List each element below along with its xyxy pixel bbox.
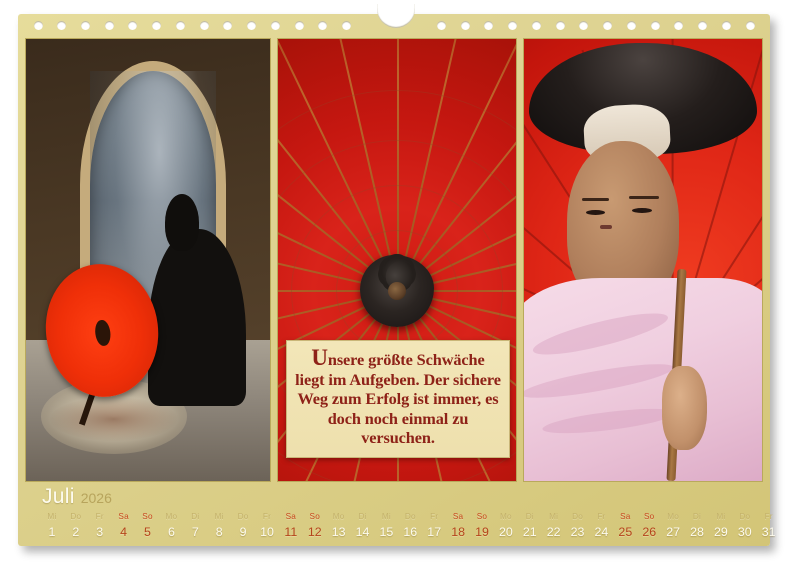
binding-hole [318, 21, 327, 30]
day-number: 18 [446, 525, 470, 539]
day-number: 11 [279, 525, 303, 539]
day-of-week-label: Mi [709, 512, 733, 521]
day-of-week-label: Do [398, 512, 422, 521]
binding-hole [722, 21, 731, 30]
day-of-week-label: Di [685, 512, 709, 521]
quote-dropcap: U [311, 345, 328, 370]
robe-fold [530, 306, 670, 363]
day-of-week-label: So [637, 512, 661, 521]
day-number: 26 [637, 525, 661, 539]
day-number: 13 [327, 525, 351, 539]
day-of-week-label: Fr [88, 512, 112, 521]
hanging-notch [377, 4, 415, 28]
day-number: 1 [40, 525, 64, 539]
day-cell[interactable]: So12 [303, 512, 327, 539]
day-of-week-label: Di [351, 512, 375, 521]
hand-gripping-handle [662, 366, 707, 450]
day-cell[interactable]: So5 [136, 512, 160, 539]
day-cell[interactable]: Mi22 [542, 512, 566, 539]
day-of-week-label: Do [231, 512, 255, 521]
day-number: 21 [518, 525, 542, 539]
binding-hole [484, 21, 493, 30]
day-number: 12 [303, 525, 327, 539]
eyebrow-right [629, 196, 658, 199]
day-cell[interactable]: Di14 [351, 512, 375, 539]
binding-hole [603, 21, 612, 30]
day-of-week-label: Mi [374, 512, 398, 521]
day-cell[interactable]: Sa18 [446, 512, 470, 539]
month-heading: Juli 2026 [42, 485, 112, 509]
pink-robe [523, 278, 763, 481]
robe-fold [523, 358, 676, 405]
binding-hole [627, 21, 636, 30]
day-of-week-label: Mi [40, 512, 64, 521]
day-cell[interactable]: Mi29 [709, 512, 733, 539]
day-cell[interactable]: Fr31 [757, 512, 781, 539]
day-cell[interactable]: Di21 [518, 512, 542, 539]
photo-panel-nun [523, 38, 763, 482]
day-number: 23 [566, 525, 590, 539]
day-number: 14 [351, 525, 375, 539]
year-label: 2026 [81, 490, 112, 506]
day-of-week-label: So [136, 512, 160, 521]
calendar-date-strip: Juli 2026 Mi1Do2Fr3Sa4So5Mo6Di7Mi8Do9Fr1… [18, 482, 770, 546]
day-cell[interactable]: Di7 [183, 512, 207, 539]
day-of-week-label: Sa [613, 512, 637, 521]
day-number: 22 [542, 525, 566, 539]
binding-hole [556, 21, 565, 30]
day-number: 6 [159, 525, 183, 539]
day-number: 30 [733, 525, 757, 539]
day-number: 24 [589, 525, 613, 539]
day-number: 29 [709, 525, 733, 539]
day-cell[interactable]: Fr3 [88, 512, 112, 539]
binding-hole [81, 21, 90, 30]
day-of-week-label: Sa [446, 512, 470, 521]
binding-hole [342, 21, 351, 30]
day-number: 9 [231, 525, 255, 539]
quote-text: Unsere größte Schwäche liegt im Aufgeben… [295, 348, 501, 448]
day-of-week-label: Mi [542, 512, 566, 521]
day-number: 3 [88, 525, 112, 539]
binding-hole [532, 21, 541, 30]
day-of-week-label: Di [183, 512, 207, 521]
mouth [600, 225, 611, 229]
day-of-week-label: Sa [279, 512, 303, 521]
photo-panel-parasol: Unsere größte Schwäche liegt im Aufgeben… [277, 38, 517, 482]
day-number: 16 [398, 525, 422, 539]
day-cell[interactable]: Mi15 [374, 512, 398, 539]
binding-hole [698, 21, 707, 30]
day-cell[interactable]: Mi1 [40, 512, 64, 539]
day-cell[interactable]: Mo27 [661, 512, 685, 539]
day-of-week-label: Fr [757, 512, 781, 521]
day-of-week-label: Fr [422, 512, 446, 521]
day-number: 2 [64, 525, 88, 539]
day-cell[interactable]: Mi8 [207, 512, 231, 539]
binding-hole [461, 21, 470, 30]
day-number: 19 [470, 525, 494, 539]
days-row: Mi1Do2Fr3Sa4So5Mo6Di7Mi8Do9Fr10Sa11So12M… [40, 512, 781, 539]
day-of-week-label: Mo [661, 512, 685, 521]
day-cell[interactable]: Do9 [231, 512, 255, 539]
day-of-week-label: Mo [159, 512, 183, 521]
day-of-week-label: Mo [494, 512, 518, 521]
day-cell[interactable]: Mo13 [327, 512, 351, 539]
day-of-week-label: Fr [589, 512, 613, 521]
day-number: 25 [613, 525, 637, 539]
day-number: 31 [757, 525, 781, 539]
binding-hole [651, 21, 660, 30]
day-of-week-label: Sa [112, 512, 136, 521]
day-number: 8 [207, 525, 231, 539]
binding-hole [247, 21, 256, 30]
binding-hole [295, 21, 304, 30]
binding-hole [152, 21, 161, 30]
day-cell[interactable]: So26 [637, 512, 661, 539]
binding-hole [57, 21, 66, 30]
binding-hole [128, 21, 137, 30]
day-cell[interactable]: So19 [470, 512, 494, 539]
day-cell[interactable]: Sa11 [279, 512, 303, 539]
spiral-binding-strip [18, 14, 770, 38]
day-cell[interactable]: Fr10 [255, 512, 279, 539]
day-of-week-label: Do [64, 512, 88, 521]
binding-hole [508, 21, 517, 30]
month-name: Juli [42, 485, 75, 509]
binding-hole [579, 21, 588, 30]
day-cell[interactable]: Fr24 [589, 512, 613, 539]
robe-fold [541, 404, 676, 438]
day-number: 20 [494, 525, 518, 539]
day-number: 5 [136, 525, 160, 539]
binding-hole [223, 21, 232, 30]
day-number: 17 [422, 525, 446, 539]
day-cell[interactable]: Sa4 [112, 512, 136, 539]
day-cell[interactable]: Mo20 [494, 512, 518, 539]
binding-hole [34, 21, 43, 30]
day-of-week-label: So [303, 512, 327, 521]
day-cell[interactable]: Sa25 [613, 512, 637, 539]
day-cell[interactable]: Di28 [685, 512, 709, 539]
day-number: 10 [255, 525, 279, 539]
binding-hole [674, 21, 683, 30]
eyebrow-left [582, 198, 609, 201]
day-number: 28 [685, 525, 709, 539]
photo-collage: Unsere größte Schwäche liegt im Aufgeben… [25, 38, 763, 482]
day-number: 4 [112, 525, 136, 539]
day-of-week-label: So [470, 512, 494, 521]
binding-hole [437, 21, 446, 30]
day-of-week-label: Fr [255, 512, 279, 521]
quote-card: Unsere größte Schwäche liegt im Aufgeben… [286, 340, 510, 458]
eye-left [586, 210, 605, 215]
binding-hole [176, 21, 185, 30]
day-of-week-label: Di [518, 512, 542, 521]
day-cell[interactable]: Do2 [64, 512, 88, 539]
day-of-week-label: Mi [207, 512, 231, 521]
day-cell[interactable]: Do16 [398, 512, 422, 539]
photo-panel-monk [25, 38, 271, 482]
day-cell[interactable]: Do30 [733, 512, 757, 539]
binding-hole [746, 21, 755, 30]
day-of-week-label: Do [566, 512, 590, 521]
day-cell[interactable]: Mo6 [159, 512, 183, 539]
day-number: 7 [183, 525, 207, 539]
day-number: 15 [374, 525, 398, 539]
day-of-week-label: Mo [327, 512, 351, 521]
calendar-page: Unsere größte Schwäche liegt im Aufgeben… [18, 14, 770, 546]
binding-hole [271, 21, 280, 30]
binding-hole [105, 21, 114, 30]
eye-right [632, 208, 652, 213]
monk-silhouette-head [165, 194, 199, 251]
day-cell[interactable]: Do23 [566, 512, 590, 539]
day-number: 27 [661, 525, 685, 539]
binding-hole [200, 21, 209, 30]
day-of-week-label: Do [733, 512, 757, 521]
day-cell[interactable]: Fr17 [422, 512, 446, 539]
